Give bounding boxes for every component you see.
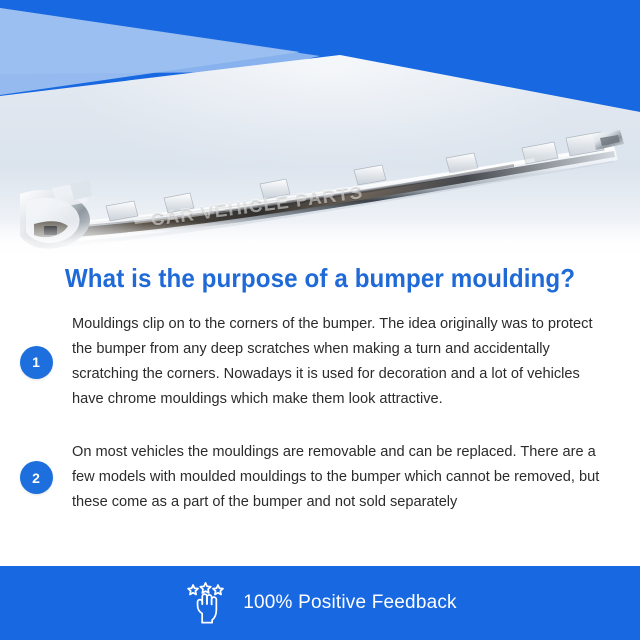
list-item-text: Mouldings clip on to the corners of the … [72,312,612,412]
page-title: What is the purpose of a bumper moulding… [22,263,617,294]
answer-list: 1 Mouldings clip on to the corners of th… [0,312,640,515]
hero-banner: CAR VEHICLE PARTS [0,0,640,268]
footer-banner: 100% Positive Feedback [0,566,640,640]
badge-column: 1 [0,346,72,379]
hand-stars-icon [183,580,229,626]
badge-column: 2 [0,461,72,494]
infographic-page: CAR VEHICLE PARTS What is the purpose of… [0,0,640,640]
list-item-text: On most vehicles the mouldings are remov… [72,440,612,515]
step-number-badge: 2 [20,461,53,494]
step-number-badge: 1 [20,346,53,379]
list-item: 2 On most vehicles the mouldings are rem… [0,440,640,515]
list-item: 1 Mouldings clip on to the corners of th… [0,312,640,412]
footer-label: 100% Positive Feedback [243,592,457,614]
hero-bottom-fade [0,222,640,268]
